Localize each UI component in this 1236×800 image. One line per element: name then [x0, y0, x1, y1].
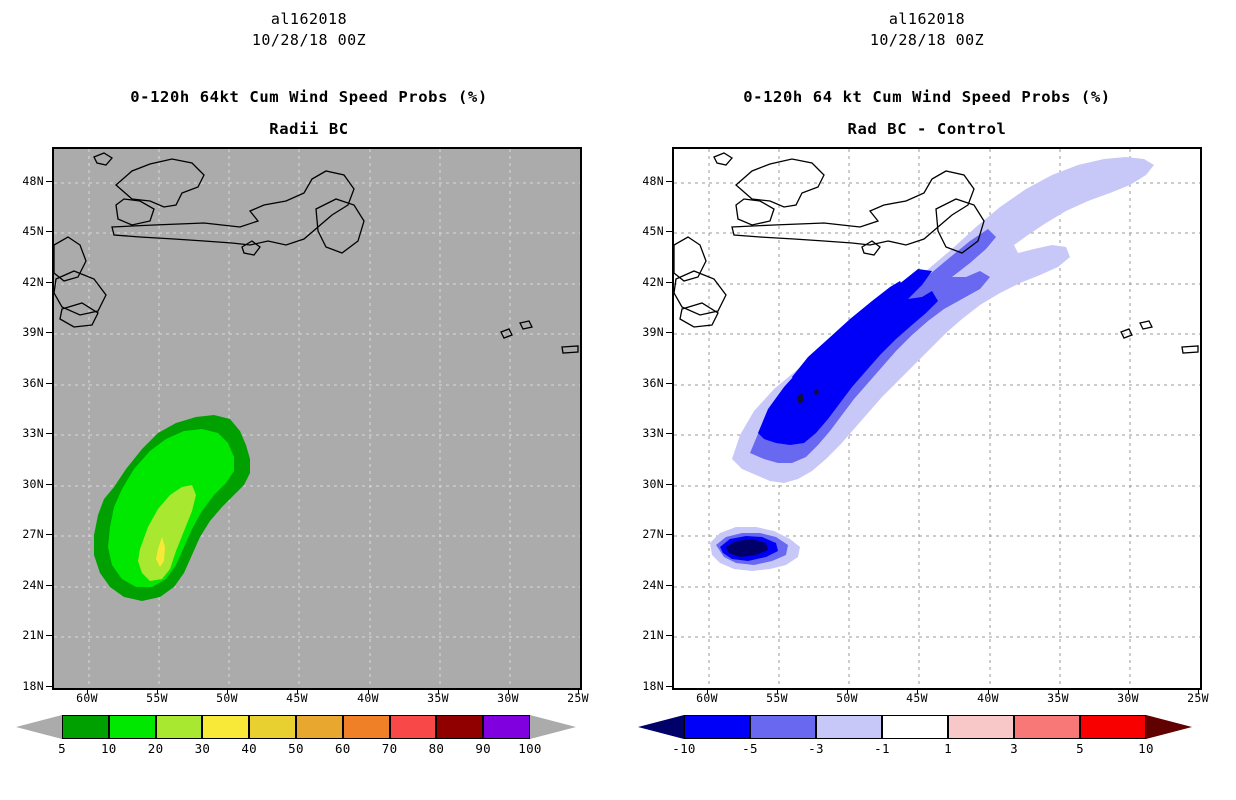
- colorbar-probability-label-7: 70: [382, 741, 398, 756]
- xtick-label-0: 60W: [76, 691, 98, 705]
- xtick-label-7: 25W: [567, 691, 589, 705]
- colorbar-probability-segment-6: [343, 715, 390, 739]
- xtick-label-5: 35W: [1047, 691, 1069, 705]
- panel-storm-id: al162018: [0, 10, 618, 28]
- ytick-label-3: 39N: [628, 325, 664, 339]
- colorbar-probability-label-0: 5: [58, 741, 66, 756]
- colorbar-difference-label-4: 1: [944, 741, 952, 756]
- ytick-3: [666, 332, 672, 333]
- panel-datetime: 10/28/18 00Z: [618, 31, 1236, 49]
- ytick-label-9: 21N: [8, 628, 44, 642]
- colorbar-probability-segment-2: [156, 715, 203, 739]
- xtick-label-6: 30W: [1117, 691, 1139, 705]
- ytick-label-2: 42N: [628, 275, 664, 289]
- panel-subtitle: Rad BC - Control: [618, 120, 1236, 138]
- ytick-0: [666, 181, 672, 182]
- ytick-10: [666, 686, 672, 687]
- xtick-label-4: 40W: [977, 691, 999, 705]
- panel-datetime: 10/28/18 00Z: [0, 31, 618, 49]
- ytick-5: [666, 433, 672, 434]
- xtick-label-2: 50W: [836, 691, 858, 705]
- ytick-label-6: 30N: [8, 477, 44, 491]
- xtick-label-0: 60W: [696, 691, 718, 705]
- colorbar-probability-label-10: 100: [518, 741, 541, 756]
- ytick-1: [46, 231, 52, 232]
- colorbar-probability-label-6: 60: [335, 741, 351, 756]
- xtick-label-7: 25W: [1187, 691, 1209, 705]
- colorbar-probability-segment-7: [390, 715, 437, 739]
- colorbar-difference-segment-0: [684, 715, 750, 739]
- ytick-6: [46, 484, 52, 485]
- ytick-2: [666, 282, 672, 283]
- ytick-label-4: 36N: [8, 376, 44, 390]
- map-contours-left: [54, 149, 580, 688]
- ytick-label-1: 45N: [628, 224, 664, 238]
- panel-storm-id: al162018: [618, 10, 1236, 28]
- colorbar-probability-label-2: 20: [148, 741, 164, 756]
- xtick-label-3: 45W: [906, 691, 928, 705]
- colorbar-difference-label-5: 3: [1010, 741, 1018, 756]
- colorbar-difference-segment-5: [1014, 715, 1080, 739]
- ytick-label-3: 39N: [8, 325, 44, 339]
- xtick-label-1: 55W: [146, 691, 168, 705]
- ytick-label-0: 48N: [628, 174, 664, 188]
- ytick-label-1: 45N: [8, 224, 44, 238]
- colorbar-probability-segment-5: [296, 715, 343, 739]
- colorbar-probability-segment-8: [436, 715, 483, 739]
- colorbar-probability-segment-9: [483, 715, 530, 739]
- ytick-label-8: 24N: [8, 578, 44, 592]
- colorbar-difference-over-arrow: [1146, 715, 1192, 739]
- ytick-8: [46, 585, 52, 586]
- ytick-9: [46, 635, 52, 636]
- map-contours-right: [674, 149, 1200, 688]
- panel-title: 0-120h 64 kt Cum Wind Speed Probs (%): [618, 88, 1236, 106]
- ytick-label-9: 21N: [628, 628, 664, 642]
- colorbar-probability-segment-3: [202, 715, 249, 739]
- xtick-label-3: 45W: [286, 691, 308, 705]
- panel-radii-bc: al162018 10/28/18 00Z 0-120h 64kt Cum Wi…: [0, 0, 618, 800]
- colorbar-difference-segment-4: [948, 715, 1014, 739]
- ytick-8: [666, 585, 672, 586]
- colorbar-difference-label-2: -3: [808, 741, 824, 756]
- colorbar-difference-label-7: 10: [1138, 741, 1154, 756]
- ytick-label-5: 33N: [628, 426, 664, 440]
- colorbar-probability-under-arrow: [16, 715, 62, 739]
- colorbar-difference-segment-6: [1080, 715, 1146, 739]
- ytick-label-7: 27N: [628, 527, 664, 541]
- ytick-label-10: 18N: [628, 679, 664, 693]
- colorbar-difference-segment-3: [882, 715, 948, 739]
- colorbar-probability-segment-0: [62, 715, 109, 739]
- colorbar-difference-label-6: 5: [1076, 741, 1084, 756]
- colorbar-difference-segment-1: [750, 715, 816, 739]
- colorbar-probability-label-1: 10: [101, 741, 117, 756]
- ytick-4: [666, 383, 672, 384]
- colorbar-difference-label-3: -1: [874, 741, 890, 756]
- ytick-10: [46, 686, 52, 687]
- xtick-label-1: 55W: [766, 691, 788, 705]
- colorbar-difference-under-arrow: [638, 715, 684, 739]
- colorbar-probability-label-3: 30: [195, 741, 211, 756]
- colorbar-probability-label-4: 40: [241, 741, 257, 756]
- ytick-label-4: 36N: [628, 376, 664, 390]
- xtick-label-2: 50W: [216, 691, 238, 705]
- ytick-label-10: 18N: [8, 679, 44, 693]
- gridlines-left: [54, 149, 580, 688]
- ytick-4: [46, 383, 52, 384]
- colorbar-difference: -10-5-3-113510: [618, 715, 1236, 739]
- ytick-label-2: 42N: [8, 275, 44, 289]
- colorbar-probability-over-arrow: [530, 715, 576, 739]
- ytick-label-6: 30N: [628, 477, 664, 491]
- colorbar-difference-label-1: -5: [742, 741, 758, 756]
- ytick-9: [666, 635, 672, 636]
- map-plot-area-right: [672, 147, 1202, 690]
- ytick-6: [666, 484, 672, 485]
- ytick-3: [46, 332, 52, 333]
- panel-rad-bc-control: al162018 10/28/18 00Z 0-120h 64 kt Cum W…: [618, 0, 1236, 800]
- ytick-label-0: 48N: [8, 174, 44, 188]
- ytick-7: [46, 534, 52, 535]
- colorbar-probability-label-8: 80: [429, 741, 445, 756]
- ytick-1: [666, 231, 672, 232]
- panel-subtitle: Radii BC: [0, 120, 618, 138]
- xtick-label-6: 30W: [497, 691, 519, 705]
- colorbar-probability-segment-1: [109, 715, 156, 739]
- ytick-0: [46, 181, 52, 182]
- ytick-2: [46, 282, 52, 283]
- map-plot-area-left: [52, 147, 582, 690]
- ytick-label-8: 24N: [628, 578, 664, 592]
- colorbar-difference-segment-2: [816, 715, 882, 739]
- ytick-label-5: 33N: [8, 426, 44, 440]
- ytick-5: [46, 433, 52, 434]
- panel-title: 0-120h 64kt Cum Wind Speed Probs (%): [0, 88, 618, 106]
- xtick-label-4: 40W: [357, 691, 379, 705]
- colorbar-probability-segment-4: [249, 715, 296, 739]
- colorbar-probability-label-9: 90: [475, 741, 491, 756]
- colorbar-difference-label-0: -10: [672, 741, 695, 756]
- ytick-label-7: 27N: [8, 527, 44, 541]
- xtick-label-5: 35W: [427, 691, 449, 705]
- ytick-7: [666, 534, 672, 535]
- colorbar-probability-label-5: 50: [288, 741, 304, 756]
- colorbar-probability: 5102030405060708090100: [0, 715, 618, 739]
